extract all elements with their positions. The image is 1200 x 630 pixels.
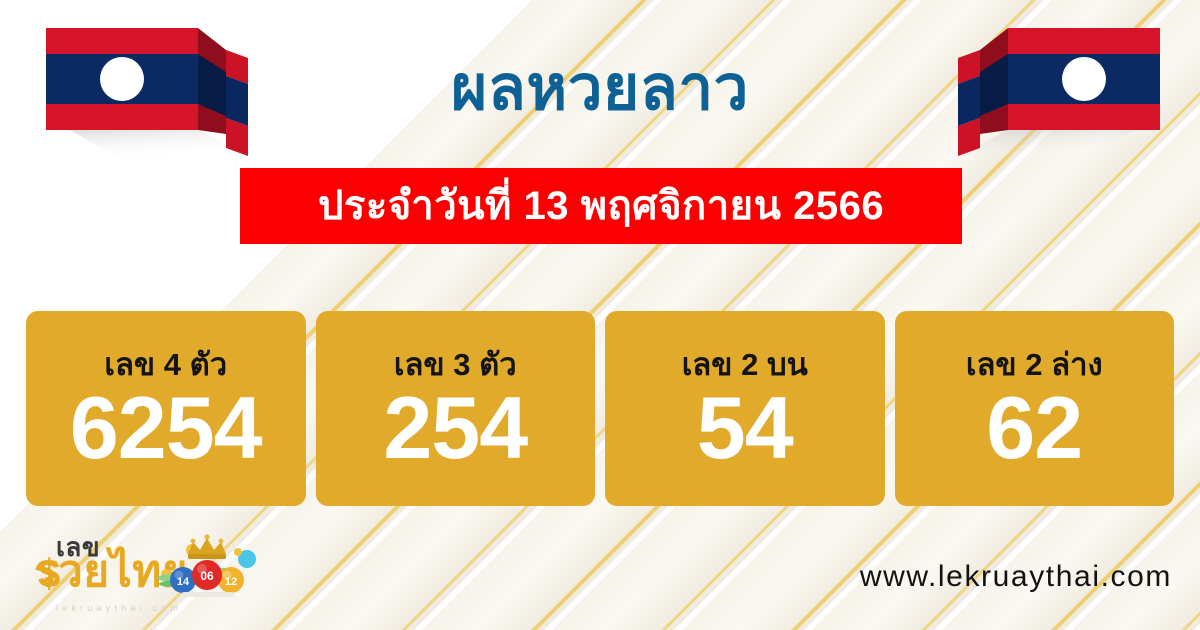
lottery-ball-12: 12: [218, 567, 244, 593]
date-text: ประจำวันที่ 13 พฤศจิกายน 2566: [318, 186, 884, 226]
result-card-value: 54: [697, 384, 793, 472]
result-card-label: เลข 2 บน: [682, 349, 808, 382]
result-card-label: เลข 3 ตัว: [394, 349, 517, 382]
result-card-4-digit[interactable]: เลข 4 ตัว 6254: [26, 311, 306, 506]
svg-text:12: 12: [225, 576, 237, 588]
result-card-label: เลข 2 ล่าง: [966, 349, 1103, 382]
svg-text:06: 06: [200, 569, 214, 583]
date-banner: ประจำวันที่ 13 พฤศจิกายน 2566: [240, 168, 962, 244]
result-card-2-digit-top[interactable]: เลข 2 บน 54: [605, 311, 885, 506]
logo-artwork: 14 12 06: [152, 532, 282, 604]
coin-icon: [234, 548, 242, 556]
svg-text:14: 14: [177, 576, 190, 588]
result-card-3-digit[interactable]: เลข 3 ตัว 254: [316, 311, 596, 506]
lottery-ball-06: 06: [192, 560, 222, 590]
lottery-result-graphic: ผลหวยลาว ประจำวันที่ 13 พฤศจิกายน 2566 เ…: [0, 0, 1200, 630]
page-title: ผลหวยลาว: [0, 58, 1200, 120]
site-url[interactable]: www.lekruaythai.com: [860, 562, 1172, 592]
result-card-value: 254: [383, 384, 527, 472]
logo-subtitle: lekruaythai.com: [56, 604, 182, 613]
site-logo[interactable]: เลข $ รวยไทย lekruaythai.com: [34, 528, 284, 620]
lottery-ball-14: 14: [170, 567, 196, 593]
result-card-value: 62: [986, 384, 1082, 472]
crown-icon: [188, 534, 226, 559]
result-cards: เลข 4 ตัว 6254 เลข 3 ตัว 254 เลข 2 บน 54…: [26, 311, 1174, 506]
result-card-label: เลข 4 ตัว: [104, 349, 227, 382]
result-card-value: 6254: [70, 384, 262, 472]
result-card-2-digit-bottom[interactable]: เลข 2 ล่าง 62: [895, 311, 1175, 506]
